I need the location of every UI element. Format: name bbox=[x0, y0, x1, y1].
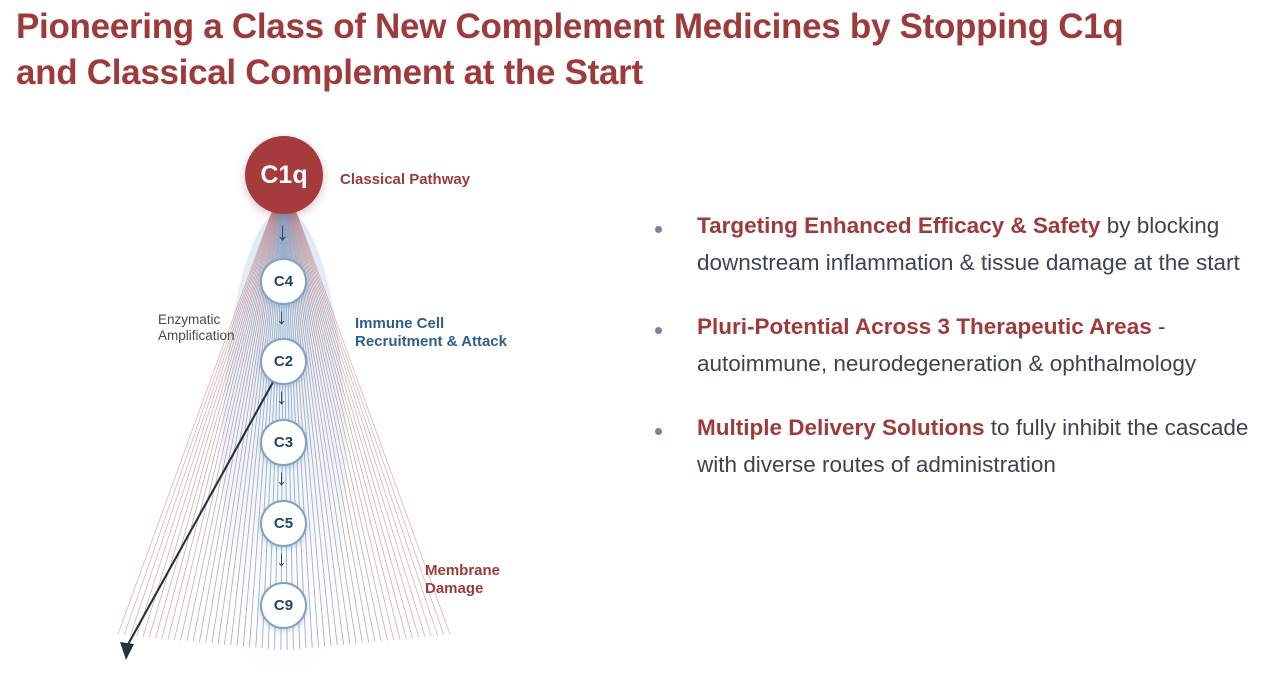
label-membrane-damage: Membrane Damage bbox=[425, 562, 500, 599]
node-c5-label: C5 bbox=[274, 515, 293, 532]
node-c1q[interactable]: C1q bbox=[245, 136, 323, 214]
node-c9-label: C9 bbox=[274, 597, 293, 614]
arrow-down-icon-1: ↓ bbox=[276, 218, 292, 244]
node-c9[interactable]: C9 bbox=[260, 582, 307, 629]
node-c2[interactable]: C2 bbox=[260, 338, 307, 385]
node-c3-label: C3 bbox=[274, 434, 293, 451]
bullet-text-1: Targeting Enhanced Efficacy & Safety by … bbox=[697, 208, 1255, 281]
bullet-marker-icon bbox=[655, 309, 697, 339]
label-enzymatic-amplification: Enzymatic Amplification bbox=[158, 312, 235, 345]
node-c3[interactable]: C3 bbox=[260, 419, 307, 466]
arrow-down-icon-5: ↓ bbox=[276, 548, 292, 570]
arrow-down-icon-3: ↓ bbox=[276, 386, 292, 408]
bullet-lead-2: Pluri-Potential Across 3 Therapeutic Are… bbox=[697, 314, 1152, 339]
complement-cascade-diagram: C1q ↓ C4 ↓ C2 ↓ C3 ↓ C5 ↓ bbox=[100, 130, 660, 678]
bullet-lead-1: Targeting Enhanced Efficacy & Safety bbox=[697, 213, 1100, 238]
arrow-down-icon-2: ↓ bbox=[276, 306, 292, 328]
amplification-fan-graphic bbox=[100, 130, 660, 678]
label-immune-cell-recruitment: Immune Cell Recruitment & Attack bbox=[355, 315, 507, 352]
bullet-text-3: Multiple Delivery Solutions to fully inh… bbox=[697, 410, 1255, 483]
list-item: Targeting Enhanced Efficacy & Safety by … bbox=[655, 208, 1255, 281]
list-item: Multiple Delivery Solutions to fully inh… bbox=[655, 410, 1255, 483]
node-c2-label: C2 bbox=[274, 353, 293, 370]
page-title: Pioneering a Class of New Complement Med… bbox=[16, 4, 1256, 96]
bullet-lead-3: Multiple Delivery Solutions bbox=[697, 415, 985, 440]
bullet-marker-icon bbox=[655, 208, 697, 238]
node-c5[interactable]: C5 bbox=[260, 500, 307, 547]
bullet-marker-icon bbox=[655, 410, 697, 440]
node-c4[interactable]: C4 bbox=[260, 258, 307, 305]
key-points-list: Targeting Enhanced Efficacy & Safety by … bbox=[655, 208, 1255, 511]
node-c4-label: C4 bbox=[274, 273, 293, 290]
label-classical-pathway: Classical Pathway bbox=[340, 171, 470, 189]
slide-root: Pioneering a Class of New Complement Med… bbox=[0, 0, 1268, 678]
bullet-text-2: Pluri-Potential Across 3 Therapeutic Are… bbox=[697, 309, 1255, 382]
list-item: Pluri-Potential Across 3 Therapeutic Are… bbox=[655, 309, 1255, 382]
node-c1q-label: C1q bbox=[260, 161, 307, 190]
arrow-down-icon-4: ↓ bbox=[276, 467, 292, 489]
